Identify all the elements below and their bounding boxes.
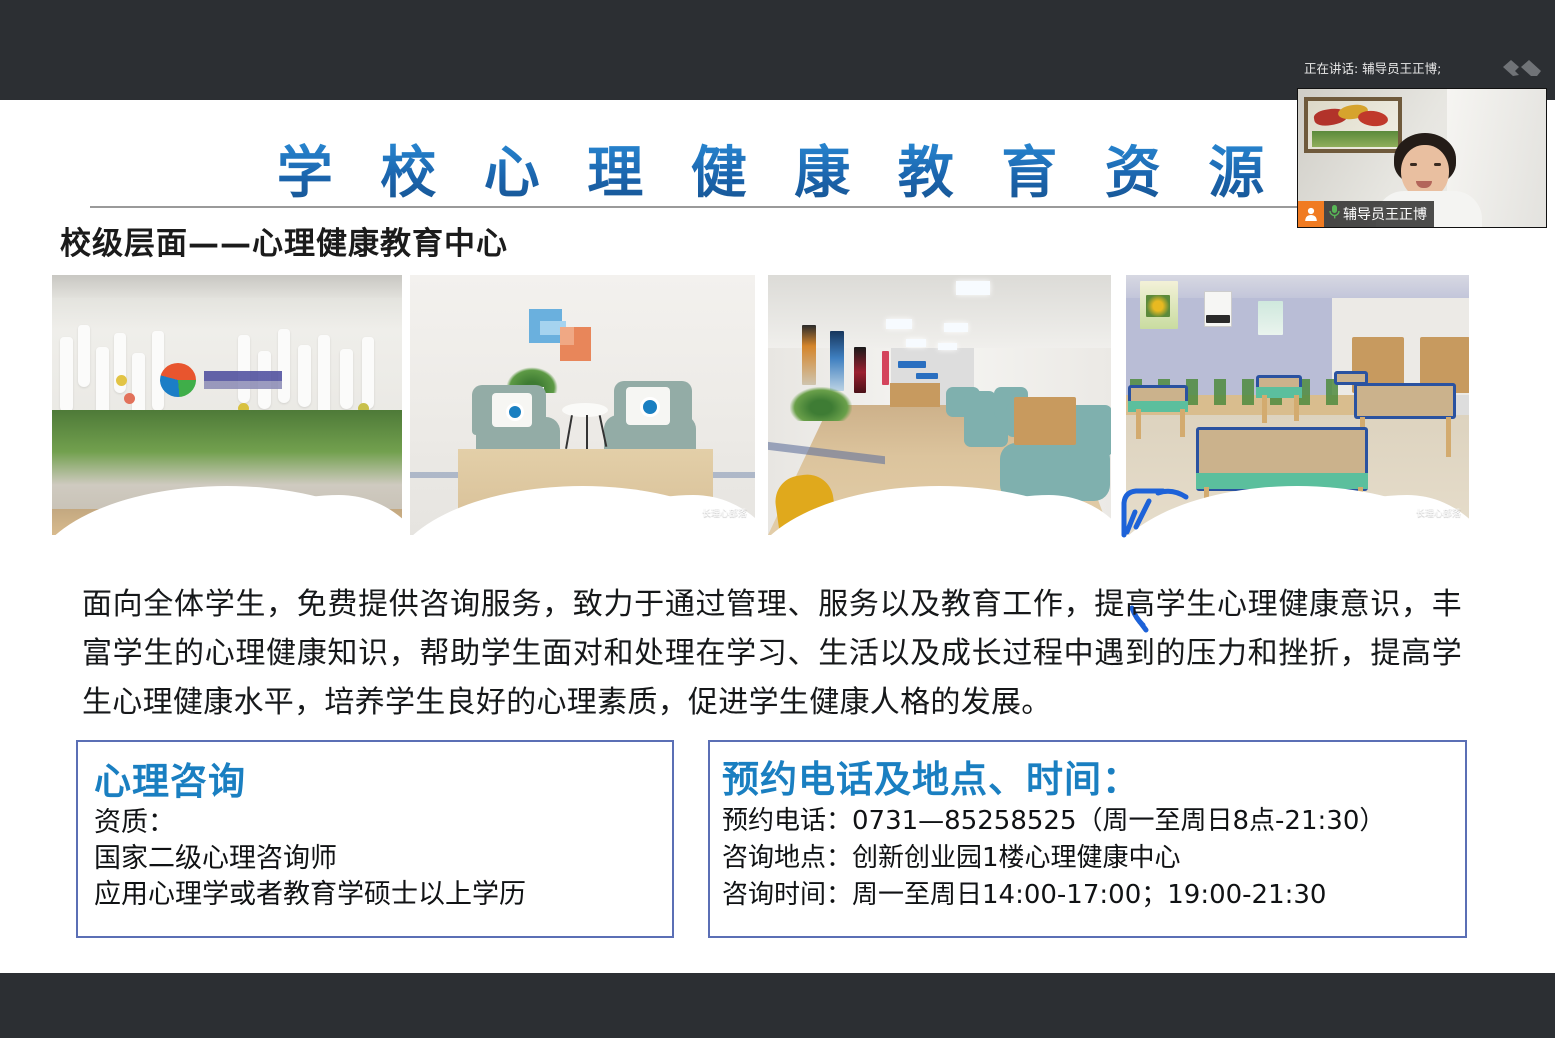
appointment-location-line: 咨询地点：创新创业园1楼心理健康中心	[722, 840, 1465, 877]
app-logo-icon	[1503, 58, 1543, 78]
participant-name-label: 辅导员王正博	[1343, 204, 1427, 224]
counseling-line-1: 资质：	[94, 805, 672, 841]
presentation-slide: 学 校 心 理 健 康 教 育 资 源 校级层面——心理健康教育中心	[0, 100, 1555, 973]
photo-watermark: 长理心部落	[1402, 506, 1461, 519]
screen-root: 学 校 心 理 健 康 教 育 资 源 校级层面——心理健康教育中心	[0, 0, 1555, 1038]
photo-relaxation-room	[768, 275, 1111, 535]
appointment-phone-line: 预约电话：0731—85258525（周一至周日8点-21:30）	[722, 803, 1465, 840]
appointment-box-heading: 预约电话及地点、时间：	[722, 749, 1465, 803]
video-conference-panel[interactable]: 正在讲话: 辅导员王正博;	[1290, 50, 1555, 230]
speaking-status-label: 正在讲话: 辅导员王正博;	[1304, 58, 1441, 77]
video-header: 正在讲话: 辅导员王正博;	[1290, 50, 1555, 85]
photo-counseling-room: 长理心部落	[410, 275, 755, 535]
center-logo-icon	[160, 363, 196, 397]
counseling-info-box: 心理咨询 资质： 国家二级心理咨询师 应用心理学或者教育学硕士以上学历	[76, 740, 674, 938]
page-subtitle: 校级层面——心理健康教育中心	[60, 218, 508, 263]
counseling-line-3: 应用心理学或者教育学硕士以上学历	[94, 877, 672, 913]
body-paragraph: 面向全体学生，免费提供咨询服务，致力于通过管理、服务以及教育工作，提高学生心理健…	[82, 580, 1462, 727]
participant-name-badge: 辅导员王正博	[1298, 201, 1434, 227]
appointment-hours-line: 咨询时间：周一至周日14:00-17:00；19:00-21:30	[722, 877, 1465, 914]
photo-strip: 长理心部落	[0, 275, 1555, 535]
microphone-icon	[1328, 204, 1341, 225]
bottom-letterbox-bar	[0, 973, 1555, 1038]
wechat-icon	[688, 507, 699, 518]
wall-painting	[1304, 97, 1402, 153]
avatar-icon	[1298, 201, 1324, 227]
counseling-line-2: 国家二级心理咨询师	[94, 841, 672, 877]
appointment-info-box: 预约电话及地点、时间： 预约电话：0731—85258525（周一至周日8点-2…	[708, 740, 1467, 938]
wechat-icon	[1402, 507, 1413, 518]
photo-watermark: 长理心部落	[688, 506, 747, 519]
photo-sandtray-room: 长理心部落	[1126, 275, 1469, 535]
participant-video-tile[interactable]: 辅导员王正博	[1297, 88, 1547, 228]
photo-culture-wall	[52, 275, 402, 535]
title-divider	[90, 206, 1490, 208]
counseling-box-heading: 心理咨询	[94, 751, 672, 805]
